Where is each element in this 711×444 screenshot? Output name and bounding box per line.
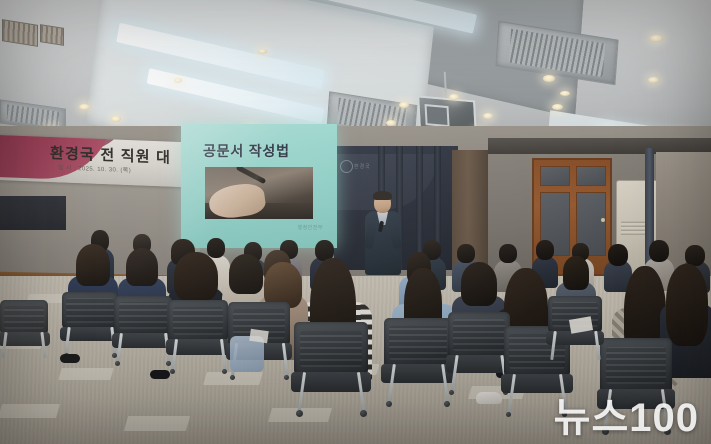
stackable-chair[interactable] [114, 296, 172, 364]
attendee-shoe [150, 370, 170, 379]
projection-screen: 공문서 작성법 행정안전부 [181, 124, 337, 248]
downlight [174, 78, 182, 83]
watermark: 뉴스100 [554, 398, 699, 438]
downlight [543, 75, 555, 82]
downlight [399, 102, 409, 108]
seminar-room-photograph: 환경국 환경국 전 직원 대 일 시 : 2025. 10. 30. (목) 공… [0, 0, 711, 444]
downlight [648, 77, 659, 83]
attendee-shoe [60, 354, 80, 363]
wall-board [0, 196, 66, 230]
wall-vent [40, 24, 64, 46]
slide-footer-logo: 행정안전부 [297, 225, 323, 233]
downlight [552, 104, 563, 110]
door-glass-panel [576, 166, 606, 186]
slide-title: 공문서 작성법 [203, 141, 290, 161]
attendee-handout [249, 329, 268, 343]
downlight [79, 104, 90, 110]
event-banner: 환경국 전 직원 대 일 시 : 2025. 10. 30. (목) [0, 135, 210, 188]
attendee-shoe [476, 392, 502, 404]
door-glass-panel [540, 166, 570, 186]
stackable-chair[interactable] [0, 300, 48, 360]
downlight [258, 49, 267, 54]
backdrop-logo-text: 환경국 [354, 163, 371, 170]
stackable-chair[interactable] [294, 322, 368, 414]
downlight [560, 91, 570, 96]
stackable-chair[interactable] [62, 292, 118, 356]
downlight [449, 94, 459, 100]
downlight [650, 35, 663, 42]
downlight [483, 113, 493, 119]
backdrop-logo-icon [340, 160, 353, 173]
door-knob-icon[interactable] [601, 218, 605, 222]
downlight [111, 116, 121, 122]
slide-photo [205, 167, 313, 219]
stackable-chair[interactable] [168, 300, 228, 372]
wall-vent [2, 19, 38, 47]
stackable-chair[interactable] [384, 318, 452, 404]
